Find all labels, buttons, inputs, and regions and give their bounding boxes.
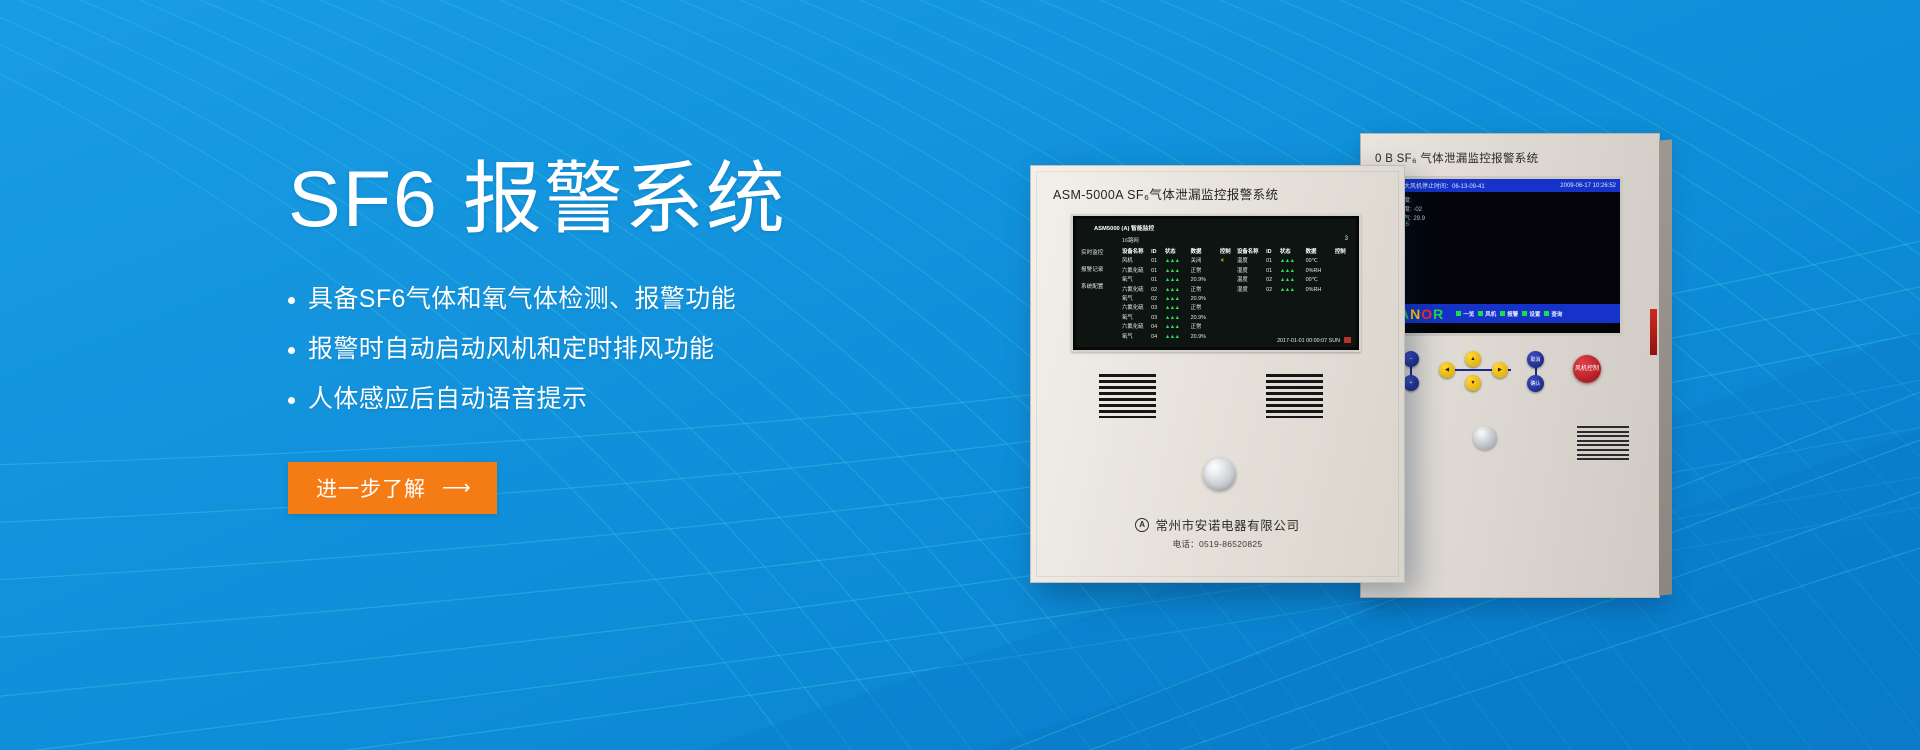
learn-more-button[interactable]: 进一步了解 ⟶ [288, 462, 497, 514]
device-back-screen-tabs: 一览 风机 报警 设置 查询 [1456, 310, 1562, 318]
cell-device-name: 氧气 [1122, 276, 1151, 285]
device-front-branding: A 常州市安诺电器有限公司 电话：0519-86520825 [1031, 514, 1404, 550]
cell-device-name-2 [1237, 314, 1266, 323]
cell-device-control-2 [1335, 314, 1352, 323]
cell-device-id-2: 02 [1266, 276, 1280, 285]
col-name: 设备名称 [1122, 248, 1151, 257]
cell-device-status: ▲▲▲ [1165, 295, 1191, 304]
tab-settings[interactable]: 设置 [1522, 310, 1540, 318]
screen-page-number: 3 [1345, 236, 1348, 242]
cell-device-name: 氧气 [1122, 333, 1151, 342]
bullet-dot-icon [288, 347, 295, 354]
cell-device-data-2 [1306, 304, 1335, 313]
cell-device-status: ▲▲▲ [1165, 304, 1191, 313]
device-back-screen-body: 温度: 湿度: -02 氧气: 29.9 SF6: [1394, 192, 1620, 304]
anor-logo: ANOR [1399, 307, 1444, 321]
arrow-right-icon: ⟶ [442, 475, 469, 500]
device-back-screen: 最大风机停止时间：06-13-09-41 2009-06-17 10:26:52… [1391, 176, 1623, 336]
device-front-screen: ASM5000 (A) 智能监控 16路网 3 实时监控 报警记录 系统配置 设… [1071, 214, 1361, 352]
product-photo-group: 0 B SF₆ 气体泄漏监控报警系统 最大风机停止时间：06-13-09-41 … [1030, 125, 1710, 625]
device-back-keypad: − + ◀ ▲ ▼ ▶ 取消 确认 风机控制 [1395, 349, 1625, 395]
feature-text: 具备SF6气体和氧气体检测、报警功能 [308, 287, 736, 312]
table-header-row: 设备名称 ID 状态 数据 控制 设备名称 ID 状态 数据 控制 [1122, 248, 1352, 257]
screen-device-table: 设备名称 ID 状态 数据 控制 设备名称 ID 状态 数据 控制 风机01▲▲… [1122, 248, 1352, 342]
cell-device-name-2: 湿度 [1237, 267, 1266, 276]
cell-device-status: ▲▲▲ [1165, 323, 1191, 332]
cell-device-id: 04 [1151, 323, 1165, 332]
cell-device-data: 正常 [1191, 286, 1220, 295]
col-status: 状态 [1165, 248, 1191, 257]
list-item: 人体感应后自动语音提示 [288, 387, 1068, 412]
fan-control-button[interactable]: 风机控制 [1573, 355, 1601, 383]
sidebar-item-realtime[interactable]: 实时监控 [1081, 248, 1119, 256]
cell-device-control [1220, 295, 1237, 304]
table-row[interactable]: 六氟化硫01▲▲▲正常湿度01▲▲▲0%RH [1122, 267, 1352, 276]
cell-device-control: ✳ [1220, 257, 1237, 266]
device-back-screen-header-left: 最大风机停止时间：06-13-09-41 [1398, 181, 1485, 190]
cell-device-id: 01 [1151, 276, 1165, 285]
list-item: 报警时自动启动风机和定时排风功能 [288, 337, 1068, 362]
cell-device-id-2 [1266, 323, 1280, 332]
cell-device-data-2: 0%RH [1306, 267, 1335, 276]
cell-device-name-2 [1237, 323, 1266, 332]
cell-device-name-2: 湿度 [1237, 286, 1266, 295]
col-status-2: 状态 [1280, 248, 1306, 257]
sidebar-item-alarm-log[interactable]: 报警记录 [1081, 265, 1119, 273]
cell-device-data: 正常 [1191, 304, 1220, 313]
cell-device-control-2 [1335, 323, 1352, 332]
table-row[interactable]: 氧气02▲▲▲20.9% [1122, 295, 1352, 304]
screen-sidebar: 实时监控 报警记录 系统配置 [1081, 248, 1119, 299]
device-back-red-strip [1650, 309, 1657, 355]
bullet-dot-icon [288, 297, 295, 304]
cell-device-data: 正常 [1191, 267, 1220, 276]
arrow-left-button[interactable]: ◀ [1439, 362, 1455, 378]
device-back-screen-footer: ANOR 一览 风机 报警 设置 查询 [1394, 304, 1620, 323]
cell-device-id-2: 01 [1266, 267, 1280, 276]
cell-device-id-2 [1266, 304, 1280, 313]
cell-device-name: 六氟化硫 [1122, 323, 1151, 332]
cell-device-id-2 [1266, 314, 1280, 323]
cell-device-status: ▲▲▲ [1165, 333, 1191, 342]
learn-more-label: 进一步了解 [316, 473, 426, 503]
cell-device-control [1220, 323, 1237, 332]
cell-device-status-2: ▲▲▲ [1280, 276, 1306, 285]
cell-device-data-2: 00℃ [1306, 257, 1335, 266]
cell-device-control [1220, 304, 1237, 313]
minus-button[interactable]: − [1403, 351, 1419, 367]
cell-device-id: 03 [1151, 304, 1165, 313]
list-item: 具备SF6气体和氧气体检测、报警功能 [288, 287, 1068, 312]
cell-device-name: 六氟化硫 [1122, 267, 1151, 276]
cancel-button[interactable]: 取消 [1527, 351, 1544, 368]
cell-device-control [1220, 276, 1237, 285]
table-row[interactable]: 六氟化硫03▲▲▲正常 [1122, 304, 1352, 313]
cell-device-data-2: 00℃ [1306, 276, 1335, 285]
feature-list: 具备SF6气体和氧气体检测、报警功能 报警时自动启动风机和定时排风功能 人体感应… [288, 287, 1068, 412]
screen-app-title: ASM5000 (A) 智能监控 [1094, 223, 1154, 232]
page-title: SF6 报警系统 [288, 158, 1068, 241]
confirm-button[interactable]: 确认 [1527, 375, 1544, 392]
device-back-screen-header: 最大风机停止时间：06-13-09-41 2009-06-17 10:26:52 [1394, 179, 1620, 192]
col-name-2: 设备名称 [1237, 248, 1266, 257]
cell-device-name: 氧气 [1122, 314, 1151, 323]
col-control-2: 控制 [1335, 248, 1352, 257]
cell-device-status: ▲▲▲ [1165, 257, 1191, 266]
table-row[interactable]: 风机01▲▲▲关闭✳温度01▲▲▲00℃ [1122, 257, 1352, 266]
plus-button[interactable]: + [1403, 375, 1419, 391]
anor-mark-icon: A [1135, 518, 1149, 532]
cell-device-data: 20.9% [1191, 276, 1220, 285]
device-back-screen-header-right: 2009-06-17 10:26:52 [1560, 183, 1616, 189]
cell-device-control [1220, 314, 1237, 323]
cell-device-data-2 [1306, 314, 1335, 323]
arrow-up-button[interactable]: ▲ [1465, 351, 1481, 367]
cell-device-data-2: 0%RH [1306, 286, 1335, 295]
motion-sensor-dome-icon [1203, 458, 1236, 491]
screen-timestamp: 2017-01-01 00:00:07 SUN [1277, 337, 1351, 344]
tab-fan[interactable]: 风机 [1478, 310, 1496, 318]
cell-device-data: 正常 [1191, 323, 1220, 332]
cell-device-status-2 [1280, 323, 1306, 332]
speaker-grille-left-icon [1099, 374, 1156, 422]
cell-device-id-2: 01 [1266, 257, 1280, 266]
cell-device-name-2: 温度 [1237, 276, 1266, 285]
cell-device-name-2 [1237, 333, 1266, 342]
cell-device-id: 01 [1151, 257, 1165, 266]
col-id-2: ID [1266, 248, 1280, 257]
cell-device-id-2 [1266, 295, 1280, 304]
cell-device-name: 六氟化硫 [1122, 304, 1151, 313]
feature-text: 人体感应后自动语音提示 [308, 387, 587, 412]
speaker-grille-right-icon [1266, 374, 1323, 422]
cell-device-status-2: ▲▲▲ [1280, 286, 1306, 295]
cell-device-data: 20.9% [1191, 295, 1220, 304]
tab-overview[interactable]: 一览 [1456, 310, 1474, 318]
sidebar-item-system-config[interactable]: 系统配置 [1081, 282, 1119, 290]
cell-device-name: 风机 [1122, 257, 1151, 266]
device-front-model-label: ASM-5000A SF₆气体泄漏监控报警系统 [1053, 184, 1278, 203]
cell-device-name-2 [1237, 304, 1266, 313]
device-front-speaker-grilles [1031, 374, 1404, 434]
device-back-speaker-grille-icon [1577, 426, 1629, 462]
col-data-2: 数据 [1306, 248, 1335, 257]
cell-device-id: 01 [1151, 267, 1165, 276]
cell-device-name-2: 温度 [1237, 257, 1266, 266]
screen-status-chip-icon [1344, 337, 1351, 343]
cell-device-name: 六氟化硫 [1122, 286, 1151, 295]
col-data: 数据 [1191, 248, 1220, 257]
cell-device-data-2 [1306, 295, 1335, 304]
cell-device-control [1220, 267, 1237, 276]
company-phone: 电话：0519-86520825 [1031, 538, 1404, 550]
cell-device-status: ▲▲▲ [1165, 267, 1191, 276]
table-row[interactable]: 六氟化硫04▲▲▲正常 [1122, 323, 1352, 332]
table-row[interactable]: 氧气01▲▲▲20.9%温度02▲▲▲00℃ [1122, 276, 1352, 285]
device-back-motion-sensor-icon [1473, 426, 1497, 450]
table-row[interactable]: 六氟化硫02▲▲▲正常湿度02▲▲▲0%RH [1122, 286, 1352, 295]
cell-device-id: 02 [1151, 286, 1165, 295]
company-row: A 常州市安诺电器有限公司 [1135, 515, 1299, 534]
cell-device-id: 03 [1151, 314, 1165, 323]
cell-device-id: 04 [1151, 333, 1165, 342]
cell-device-data: 关闭 [1191, 257, 1220, 266]
tab-alarm[interactable]: 报警 [1500, 310, 1518, 318]
cell-device-name: 氧气 [1122, 295, 1151, 304]
cell-device-status-2: ▲▲▲ [1280, 257, 1306, 266]
cell-device-control-2 [1335, 267, 1352, 276]
device-back-panel: 0 B SF₆ 气体泄漏监控报警系统 最大风机停止时间：06-13-09-41 … [1360, 133, 1660, 598]
device-front-panel: ASM-5000A SF₆气体泄漏监控报警系统 ASM5000 (A) 智能监控… [1030, 165, 1405, 583]
screen-subtitle: 16路网 [1122, 236, 1139, 244]
cell-device-status: ▲▲▲ [1165, 276, 1191, 285]
arrow-right-button[interactable]: ▶ [1492, 362, 1508, 378]
cell-device-data: 20.9% [1191, 314, 1220, 323]
bullet-dot-icon [288, 397, 295, 404]
cell-device-status-2: ▲▲▲ [1280, 267, 1306, 276]
cell-device-control-2 [1335, 257, 1352, 266]
cell-device-status-2 [1280, 314, 1306, 323]
col-id: ID [1151, 248, 1165, 257]
cell-device-id: 02 [1151, 295, 1165, 304]
cell-device-control-2 [1335, 304, 1352, 313]
hero-copy: SF6 报警系统 具备SF6气体和氧气体检测、报警功能 报警时自动启动风机和定时… [288, 158, 1068, 514]
cell-device-control-2 [1335, 295, 1352, 304]
cell-device-control-2 [1335, 276, 1352, 285]
tab-query[interactable]: 查询 [1544, 310, 1562, 318]
device-back-side-edge [1659, 139, 1672, 595]
cell-device-status: ▲▲▲ [1165, 314, 1191, 323]
col-control: 控制 [1220, 248, 1237, 257]
hero-banner: SF6 报警系统 具备SF6气体和氧气体检测、报警功能 报警时自动启动风机和定时… [0, 0, 1920, 750]
feature-text: 报警时自动启动风机和定时排风功能 [308, 337, 714, 362]
cell-device-status: ▲▲▲ [1165, 286, 1191, 295]
arrow-down-button[interactable]: ▼ [1465, 375, 1481, 391]
cell-device-control-2 [1335, 286, 1352, 295]
cell-device-name-2 [1237, 295, 1266, 304]
cell-device-id-2: 02 [1266, 286, 1280, 295]
cell-device-data-2 [1306, 323, 1335, 332]
device-back-model-label: 0 B SF₆ 气体泄漏监控报警系统 [1375, 150, 1538, 166]
table-row[interactable]: 氧气03▲▲▲20.9% [1122, 314, 1352, 323]
cell-device-status-2 [1280, 295, 1306, 304]
cell-device-control [1220, 333, 1237, 342]
cell-device-data: 20.9% [1191, 333, 1220, 342]
cell-device-status-2 [1280, 304, 1306, 313]
cell-device-control [1220, 286, 1237, 295]
company-name: 常州市安诺电器有限公司 [1155, 515, 1299, 534]
